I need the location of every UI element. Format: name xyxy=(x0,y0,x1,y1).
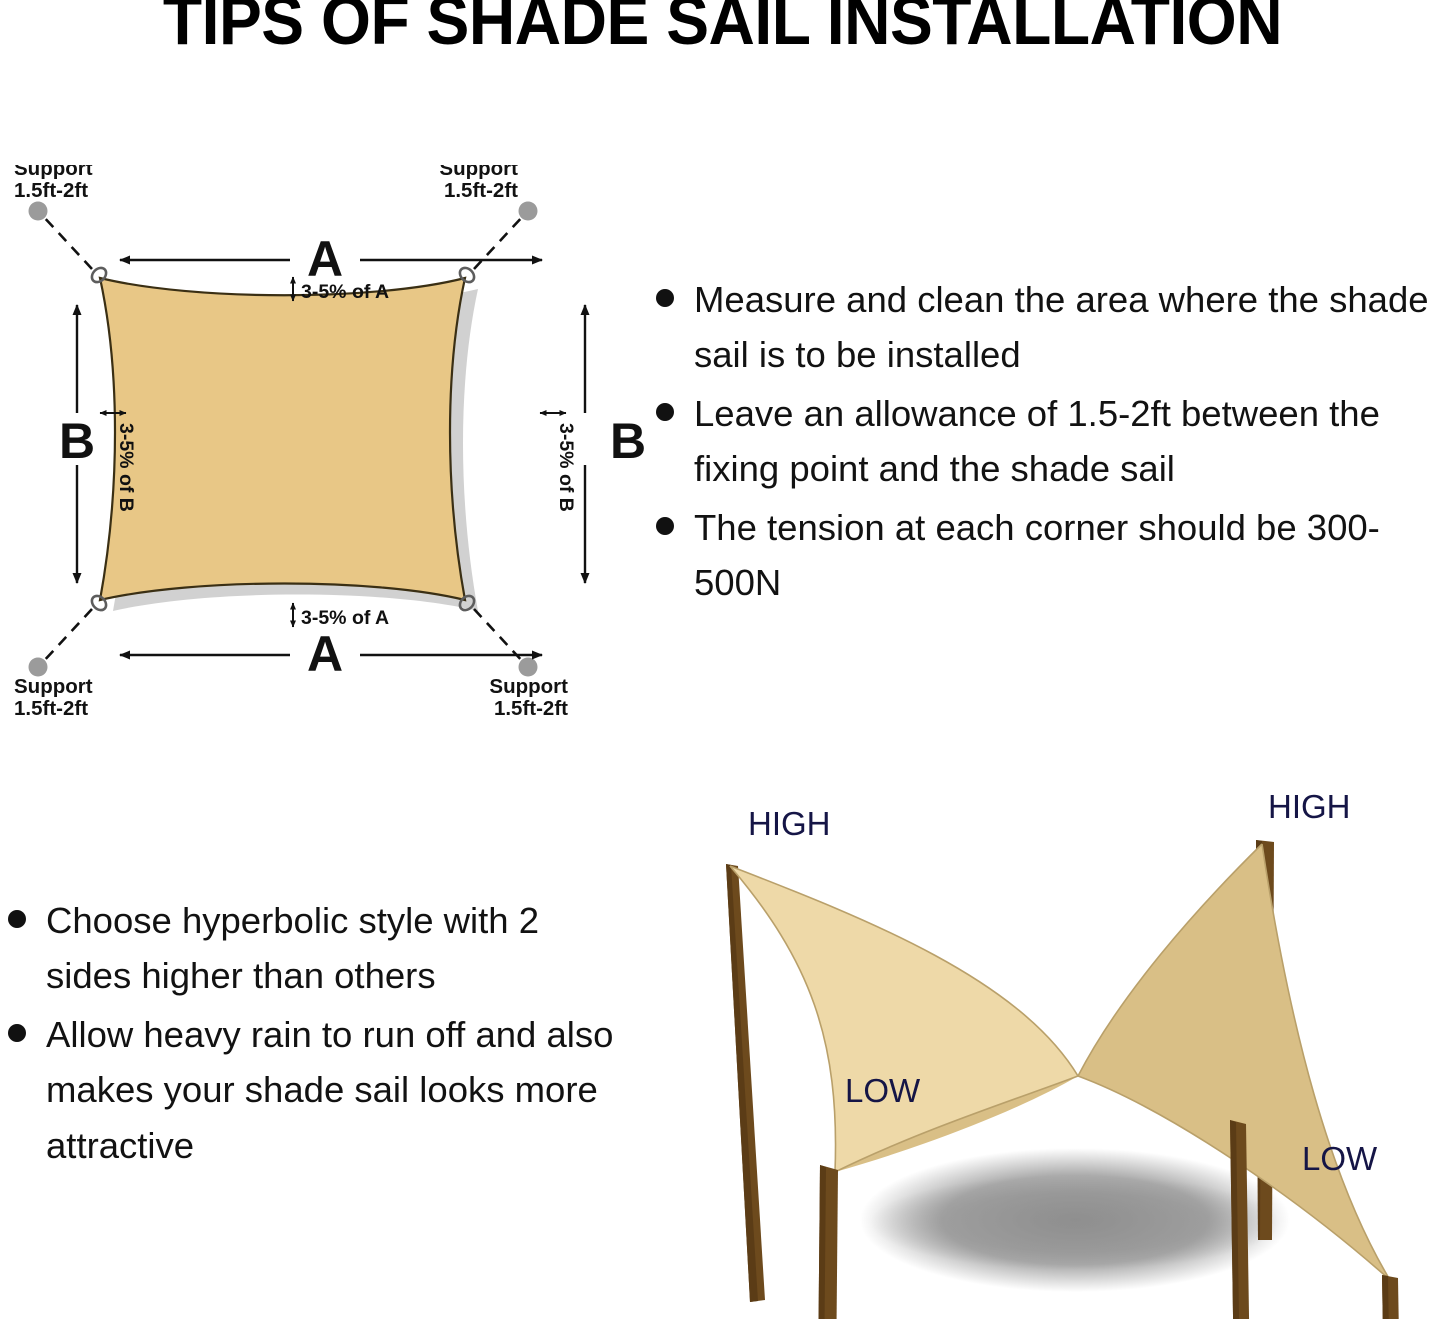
infographic-root: TIPS OF SHADE SAIL INSTALLATION xyxy=(0,0,1445,1319)
dimension-a-bottom: A xyxy=(120,626,542,682)
bullet-dot-icon xyxy=(8,1024,26,1042)
support-label-line1: Support xyxy=(14,165,93,180)
rectangular-sail-diagram: Support 1.5ft-2ft Support 1.5ft-2ft Supp… xyxy=(0,165,660,725)
tip-item: The tension at each corner should be 300… xyxy=(650,500,1445,611)
bullet-dot-icon xyxy=(8,910,26,928)
support-label-line2: 1.5ft-2ft xyxy=(14,697,88,720)
curve-label-top: 3-5% of A xyxy=(293,277,389,303)
dimension-label-b-right: B xyxy=(610,413,646,469)
corner-label-high-left: HIGH xyxy=(748,805,831,842)
tip-text: Measure and clean the area where the sha… xyxy=(694,279,1429,375)
tip-text: Allow heavy rain to run off and also mak… xyxy=(46,1014,613,1166)
tip-text: The tension at each corner should be 300… xyxy=(694,507,1380,603)
bullet-dot-icon xyxy=(656,403,674,421)
support-label-line2: 1.5ft-2ft xyxy=(14,179,88,202)
tip-item: Choose hyperbolic style with 2 sides hig… xyxy=(2,893,627,1004)
sail-surface-front-left xyxy=(730,866,1078,1172)
support-label-line1: Support xyxy=(439,165,518,180)
support-label-bottom-left: Support 1.5ft-2ft xyxy=(14,675,93,720)
dimension-b-right: B xyxy=(585,305,646,583)
curve-label-top-text: 3-5% of A xyxy=(301,281,389,303)
curve-label-right-text: 3-5% of B xyxy=(555,423,577,512)
corner-label-low-left: LOW xyxy=(845,1072,921,1109)
dimension-label-b-left: B xyxy=(59,413,95,469)
dimension-b-left: B xyxy=(59,305,95,583)
bullet-dot-icon xyxy=(656,289,674,307)
page-title: TIPS OF SHADE SAIL INSTALLATION xyxy=(51,0,1395,55)
sail-fabric xyxy=(100,278,465,600)
curve-label-left-text: 3-5% of B xyxy=(115,423,137,512)
installation-tips-right: Measure and clean the area where the sha… xyxy=(650,272,1445,614)
support-label-line1: Support xyxy=(14,675,93,698)
tip-text: Leave an allowance of 1.5-2ft between th… xyxy=(694,393,1380,489)
support-label-line1: Support xyxy=(489,675,568,698)
tip-item: Leave an allowance of 1.5-2ft between th… xyxy=(650,386,1445,497)
support-label-line2: 1.5ft-2ft xyxy=(494,697,568,720)
dimension-a-top: A xyxy=(120,231,542,287)
ground-shadow xyxy=(860,1148,1290,1292)
post-low-right xyxy=(1382,1275,1402,1319)
support-label-top-left: Support 1.5ft-2ft xyxy=(14,165,93,202)
dimension-label-a-bottom: A xyxy=(307,626,343,682)
dimension-label-a-top: A xyxy=(307,231,343,287)
hyperbolic-sail-diagram: HIGH HIGH LOW LOW xyxy=(690,780,1445,1319)
corner-label-high-right: HIGH xyxy=(1268,788,1351,825)
bullet-dot-icon xyxy=(656,517,674,535)
tip-text: Choose hyperbolic style with 2 sides hig… xyxy=(46,900,539,996)
curve-label-right: 3-5% of B xyxy=(540,413,577,512)
post-high-left xyxy=(726,864,765,1302)
post-low-left xyxy=(818,1165,838,1319)
curve-label-left: 3-5% of B xyxy=(100,413,137,512)
support-label-top-right: Support 1.5ft-2ft xyxy=(439,165,518,202)
tip-item: Measure and clean the area where the sha… xyxy=(650,272,1445,383)
support-label-line2: 1.5ft-2ft xyxy=(444,179,518,202)
corner-label-low-right: LOW xyxy=(1302,1140,1378,1177)
support-label-bottom-right: Support 1.5ft-2ft xyxy=(489,675,568,720)
installation-tips-left: Choose hyperbolic style with 2 sides hig… xyxy=(2,893,627,1176)
tip-item: Allow heavy rain to run off and also mak… xyxy=(2,1007,627,1173)
